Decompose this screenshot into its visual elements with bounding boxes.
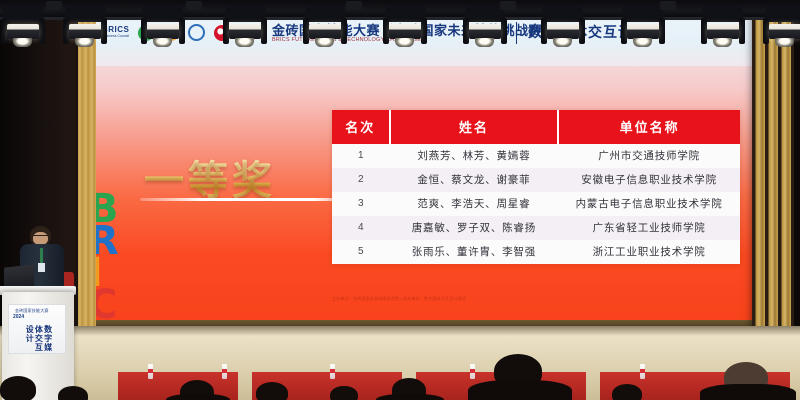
- podium-sign-line2: 2024: [13, 314, 24, 320]
- cell-names: 唐嘉敏、罗子双、陈睿扬: [390, 216, 559, 240]
- cell-rank: 3: [332, 192, 390, 216]
- audience-shoulders: [700, 384, 796, 400]
- audience-shoulders: [468, 380, 572, 400]
- stage-spotlight: [540, 6, 586, 50]
- stage-floor-shadow: [0, 326, 800, 336]
- water-bottle: [330, 364, 335, 379]
- stage-spotlight: [302, 6, 348, 50]
- wall-edge-right: [794, 0, 800, 345]
- winners-table-body: 1 刘燕芳、林芳、黄嫣蓉 广州市交通技师学院 2 金恒、蔡文龙、谢豪菲 安徽电子…: [332, 144, 740, 264]
- cell-organization: 安徽电子信息职业技术学院: [558, 168, 740, 192]
- stage-spotlight: [762, 6, 800, 50]
- cell-names: 刘燕芳、林芳、黄嫣蓉: [390, 144, 559, 168]
- truss-fixture: [346, 1, 362, 10]
- speaker-badge: [38, 263, 45, 272]
- cell-organization: 浙江工业职业技术学院: [558, 240, 740, 264]
- stage-spotlight: [462, 6, 508, 50]
- stage-spotlight: [222, 6, 268, 50]
- stage-spotlight: [700, 6, 746, 50]
- cell-organization: 广州市交通技师学院: [558, 144, 740, 168]
- cell-names: 金恒、蔡文龙、谢豪菲: [390, 168, 559, 192]
- water-bottle: [470, 364, 475, 379]
- audience-head: [612, 384, 642, 400]
- brics-letter-r: R: [96, 225, 160, 257]
- speaker-lanyard: [40, 248, 43, 264]
- truss-fixture: [186, 1, 202, 10]
- audience-head: [58, 386, 88, 400]
- wood-wall-panel-right: [752, 0, 794, 345]
- cell-rank: 1: [332, 144, 390, 168]
- slide-footnote: 主办单位：金砖国家未来网络研究院 | 承办单位：数字媒体交互设计赛项: [332, 296, 662, 302]
- cell-names: 范爽、李浩天、周星睿: [390, 192, 559, 216]
- award-title-underline: [140, 198, 344, 201]
- cell-rank: 4: [332, 216, 390, 240]
- truss-fixture: [660, 1, 676, 10]
- audience-shoulders: [166, 394, 230, 400]
- table-row: 5 张雨乐、董许胄、李智强 浙江工业职业技术学院: [332, 240, 740, 264]
- column-header-organization: 单位名称: [558, 110, 740, 144]
- column-header-rank: 名次: [332, 110, 390, 144]
- cell-organization: 广东省轻工业技师学院: [558, 216, 740, 240]
- speaker-glasses: [33, 235, 48, 239]
- cell-rank: 2: [332, 168, 390, 192]
- cell-rank: 5: [332, 240, 390, 264]
- cell-names: 张雨乐、董许胄、李智强: [390, 240, 559, 264]
- auditorium-stage-scene: BRICS Business Council 金砖国家技能大赛（金砖国家未来技能…: [0, 0, 800, 400]
- table-header-row: 名次 姓名 单位名称: [332, 110, 740, 144]
- audience-head: [0, 376, 36, 400]
- stage-spotlight: [140, 6, 186, 50]
- brics-vertical-letters: B R I C S: [96, 193, 160, 325]
- stage-spotlight: [0, 6, 46, 50]
- table-row: 2 金恒、蔡文龙、谢豪菲 安徽电子信息职业技术学院: [332, 168, 740, 192]
- water-bottle: [640, 364, 645, 379]
- table-row: 3 范爽、李浩天、周星睿 内蒙古电子信息职业技术学院: [332, 192, 740, 216]
- led-presentation-screen: BRICS Business Council 金砖国家技能大赛（金砖国家未来技能…: [96, 8, 752, 325]
- podium-sign: 金砖国家技能大赛 2024 数字媒体交互设计: [8, 304, 66, 354]
- water-bottle: [222, 364, 227, 379]
- audience-shoulders: [376, 394, 444, 400]
- podium-sign-line3: 数字媒体交互设计: [25, 325, 53, 353]
- truss-fixture: [46, 1, 62, 10]
- cell-organization: 内蒙古电子信息职业技术学院: [558, 192, 740, 216]
- column-header-names: 姓名: [390, 110, 559, 144]
- winners-table: 名次 姓名 单位名称 1 刘燕芳、林芳、黄嫣蓉 广州市交通技师学院 2 金恒、蔡…: [332, 110, 740, 264]
- water-bottle: [148, 364, 153, 379]
- wood-wall-panel-left: [78, 0, 97, 345]
- table-row: 4 唐嘉敏、罗子双、陈睿扬 广东省轻工业技师学院: [332, 216, 740, 240]
- truss-fixture: [500, 1, 516, 10]
- stage-spotlight: [62, 6, 108, 50]
- logo-emblem-ring: [188, 24, 205, 41]
- stage-spotlight: [382, 6, 428, 50]
- table-row: 1 刘燕芳、林芳、黄嫣蓉 广州市交通技师学院: [332, 144, 740, 168]
- stage-spotlight: [620, 6, 666, 50]
- audience-head: [256, 382, 288, 400]
- audience-head: [330, 386, 358, 400]
- banner-divider: [516, 22, 517, 44]
